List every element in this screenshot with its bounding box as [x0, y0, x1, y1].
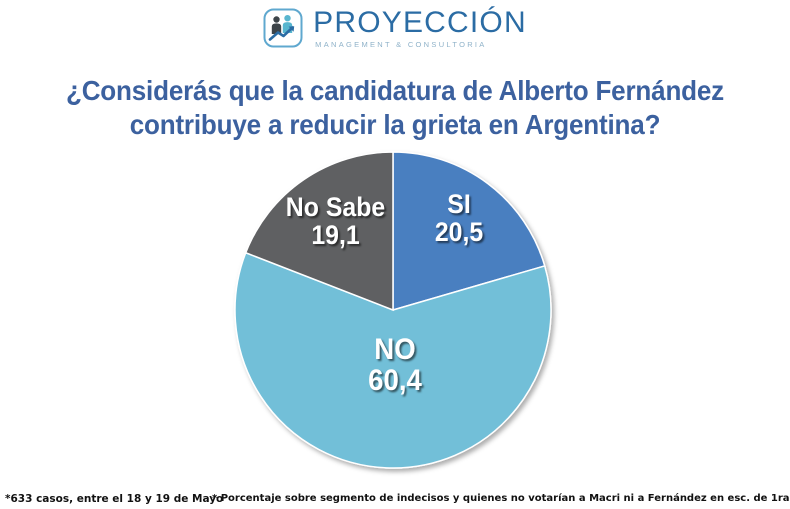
brand-text: PROYECCIÓN MANAGEMENT & CONSULTORIA — [313, 8, 527, 49]
pie-label-no: NO 60,4 — [335, 334, 455, 396]
people-growth-arrow-icon — [263, 8, 303, 48]
brand-tagline: MANAGEMENT & CONSULTORIA — [313, 41, 527, 49]
pie-label-no-name: NO — [335, 334, 455, 365]
pie-label-no-sabe: No Sabe 19,1 — [273, 193, 397, 249]
brand-name: PROYECCIÓN — [313, 8, 527, 38]
pie-label-si-name: SI — [408, 190, 509, 218]
brand-logo: PROYECCIÓN MANAGEMENT & CONSULTORIA — [0, 4, 790, 52]
pie-label-si-value: 20,5 — [408, 218, 509, 246]
footer: *633 casos, entre el 18 y 19 de Mayo * P… — [0, 488, 790, 509]
pie-label-no-value: 60,4 — [335, 365, 455, 396]
pie-label-no-sabe-name: No Sabe — [273, 193, 397, 221]
pie-label-no-sabe-value: 19,1 — [273, 221, 397, 249]
footnote-methodology: * Porcentaje sobre segmento de indecisos… — [212, 493, 790, 504]
chart-title-line-2: contribuye a reducir la grieta en Argent… — [65, 108, 725, 142]
pie-label-si: SI 20,5 — [408, 190, 509, 246]
footnote-sample-size: *633 casos, entre el 18 y 19 de Mayo — [5, 493, 223, 505]
chart-title: ¿Considerás que la candidatura de Albert… — [65, 74, 725, 142]
chart-title-line-1: ¿Considerás que la candidatura de Albert… — [65, 74, 725, 108]
